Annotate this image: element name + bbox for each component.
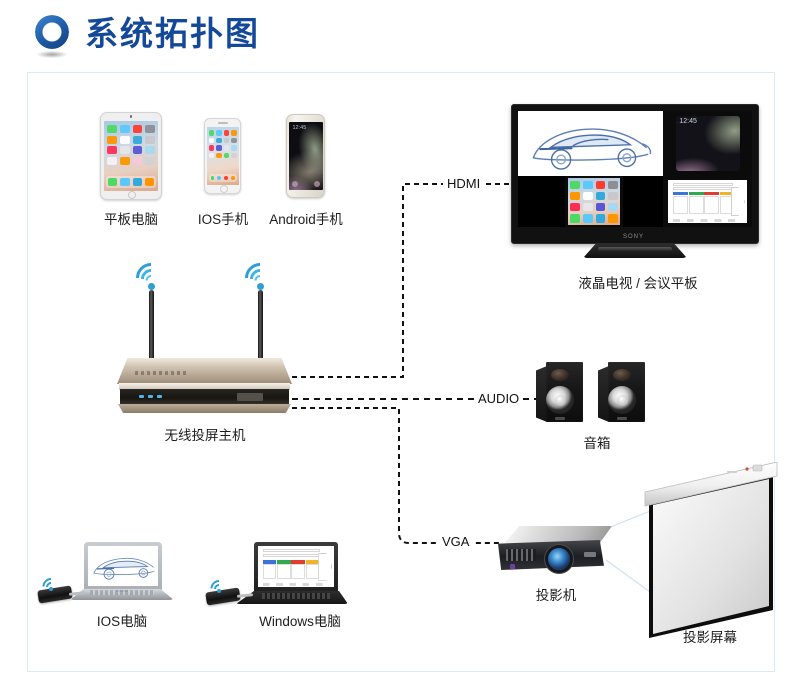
tv-label: 液晶电视 / 会议平板 xyxy=(545,272,731,292)
projection-screen[interactable] xyxy=(641,462,781,647)
tv-quadrant-android-ui: 12:45 xyxy=(663,111,752,176)
macbook-screen xyxy=(88,546,158,586)
android-phone-label: Android手机 xyxy=(248,208,364,228)
wifi-dongle-mac[interactable] xyxy=(38,580,84,606)
android-bottom-icons xyxy=(292,181,320,187)
ios-app-grid xyxy=(209,130,237,158)
tablet-camera-icon xyxy=(130,115,133,118)
windows-label: Windows电脑 xyxy=(230,610,370,630)
tablet-home-button[interactable] xyxy=(128,191,136,199)
tablet-app-grid xyxy=(107,125,155,165)
mac-label: IOS电脑 xyxy=(58,610,186,630)
wifi-dongle-signal-icon xyxy=(208,580,230,594)
android-phone-screen: 12:45 xyxy=(289,122,323,190)
android-phone-device[interactable]: 12:45 xyxy=(286,114,325,198)
topology-page: 系统拓扑图 HDMI AUDIO VGA xyxy=(0,0,800,686)
tablet-screen xyxy=(104,121,158,191)
phone-speaker-icon xyxy=(218,122,228,124)
projector-vents xyxy=(506,549,536,561)
wifi-antenna-left-icon xyxy=(134,262,168,318)
tv-quadrant-tablet-ui xyxy=(565,176,624,227)
projection-screen-label: 投影屏幕 xyxy=(640,626,780,646)
projector-label: 投影机 xyxy=(496,584,616,604)
ios-home-button[interactable] xyxy=(220,185,228,193)
ios-phone-device[interactable] xyxy=(204,118,241,194)
tv-stand xyxy=(583,244,687,258)
android-clock: 12:45 xyxy=(293,125,307,131)
projector-port xyxy=(584,552,596,557)
speakers-label: 音箱 xyxy=(536,432,658,452)
connection-label-audio: AUDIO xyxy=(474,391,523,406)
wifi-antenna-right-icon xyxy=(243,262,277,318)
wifi-dongle-signal-icon xyxy=(40,578,62,592)
wifi-dongle-win[interactable] xyxy=(206,582,252,608)
speaker-left xyxy=(536,362,584,422)
ios-dock xyxy=(209,174,237,182)
speaker-right xyxy=(598,362,646,422)
windows-laptop-screen xyxy=(258,546,334,587)
windows-laptop[interactable] xyxy=(236,542,348,606)
connection-label-hdmi: HDMI xyxy=(443,176,484,191)
projector-lens-icon xyxy=(548,548,570,570)
speaker-pair-device[interactable] xyxy=(536,362,658,424)
projector-device[interactable] xyxy=(496,526,616,582)
ios-phone-screen xyxy=(207,127,239,185)
lcd-tv-device[interactable]: 12:45 xyxy=(511,104,759,264)
macbook-laptop[interactable] xyxy=(70,542,174,604)
macbook-keyboard xyxy=(90,590,154,595)
hub-port xyxy=(237,393,263,401)
tv-quadrant-chart-slide xyxy=(663,176,752,227)
tablet-dock xyxy=(106,176,156,188)
windows-laptop-keyboard xyxy=(262,593,330,599)
tv-quadrant-car-sketch xyxy=(518,111,663,176)
tv-screen: 12:45 xyxy=(518,111,752,227)
hub-brand-mark xyxy=(135,371,187,375)
projector-led-icon xyxy=(510,564,515,569)
hub-status-leds xyxy=(139,395,162,398)
connection-label-vga: VGA xyxy=(438,534,473,549)
tablet-device[interactable] xyxy=(100,112,162,200)
tv-brand-label: SONY xyxy=(623,234,644,240)
hub-label: 无线投屏主机 xyxy=(120,424,290,444)
wireless-screen-mirroring-host[interactable] xyxy=(117,358,292,416)
